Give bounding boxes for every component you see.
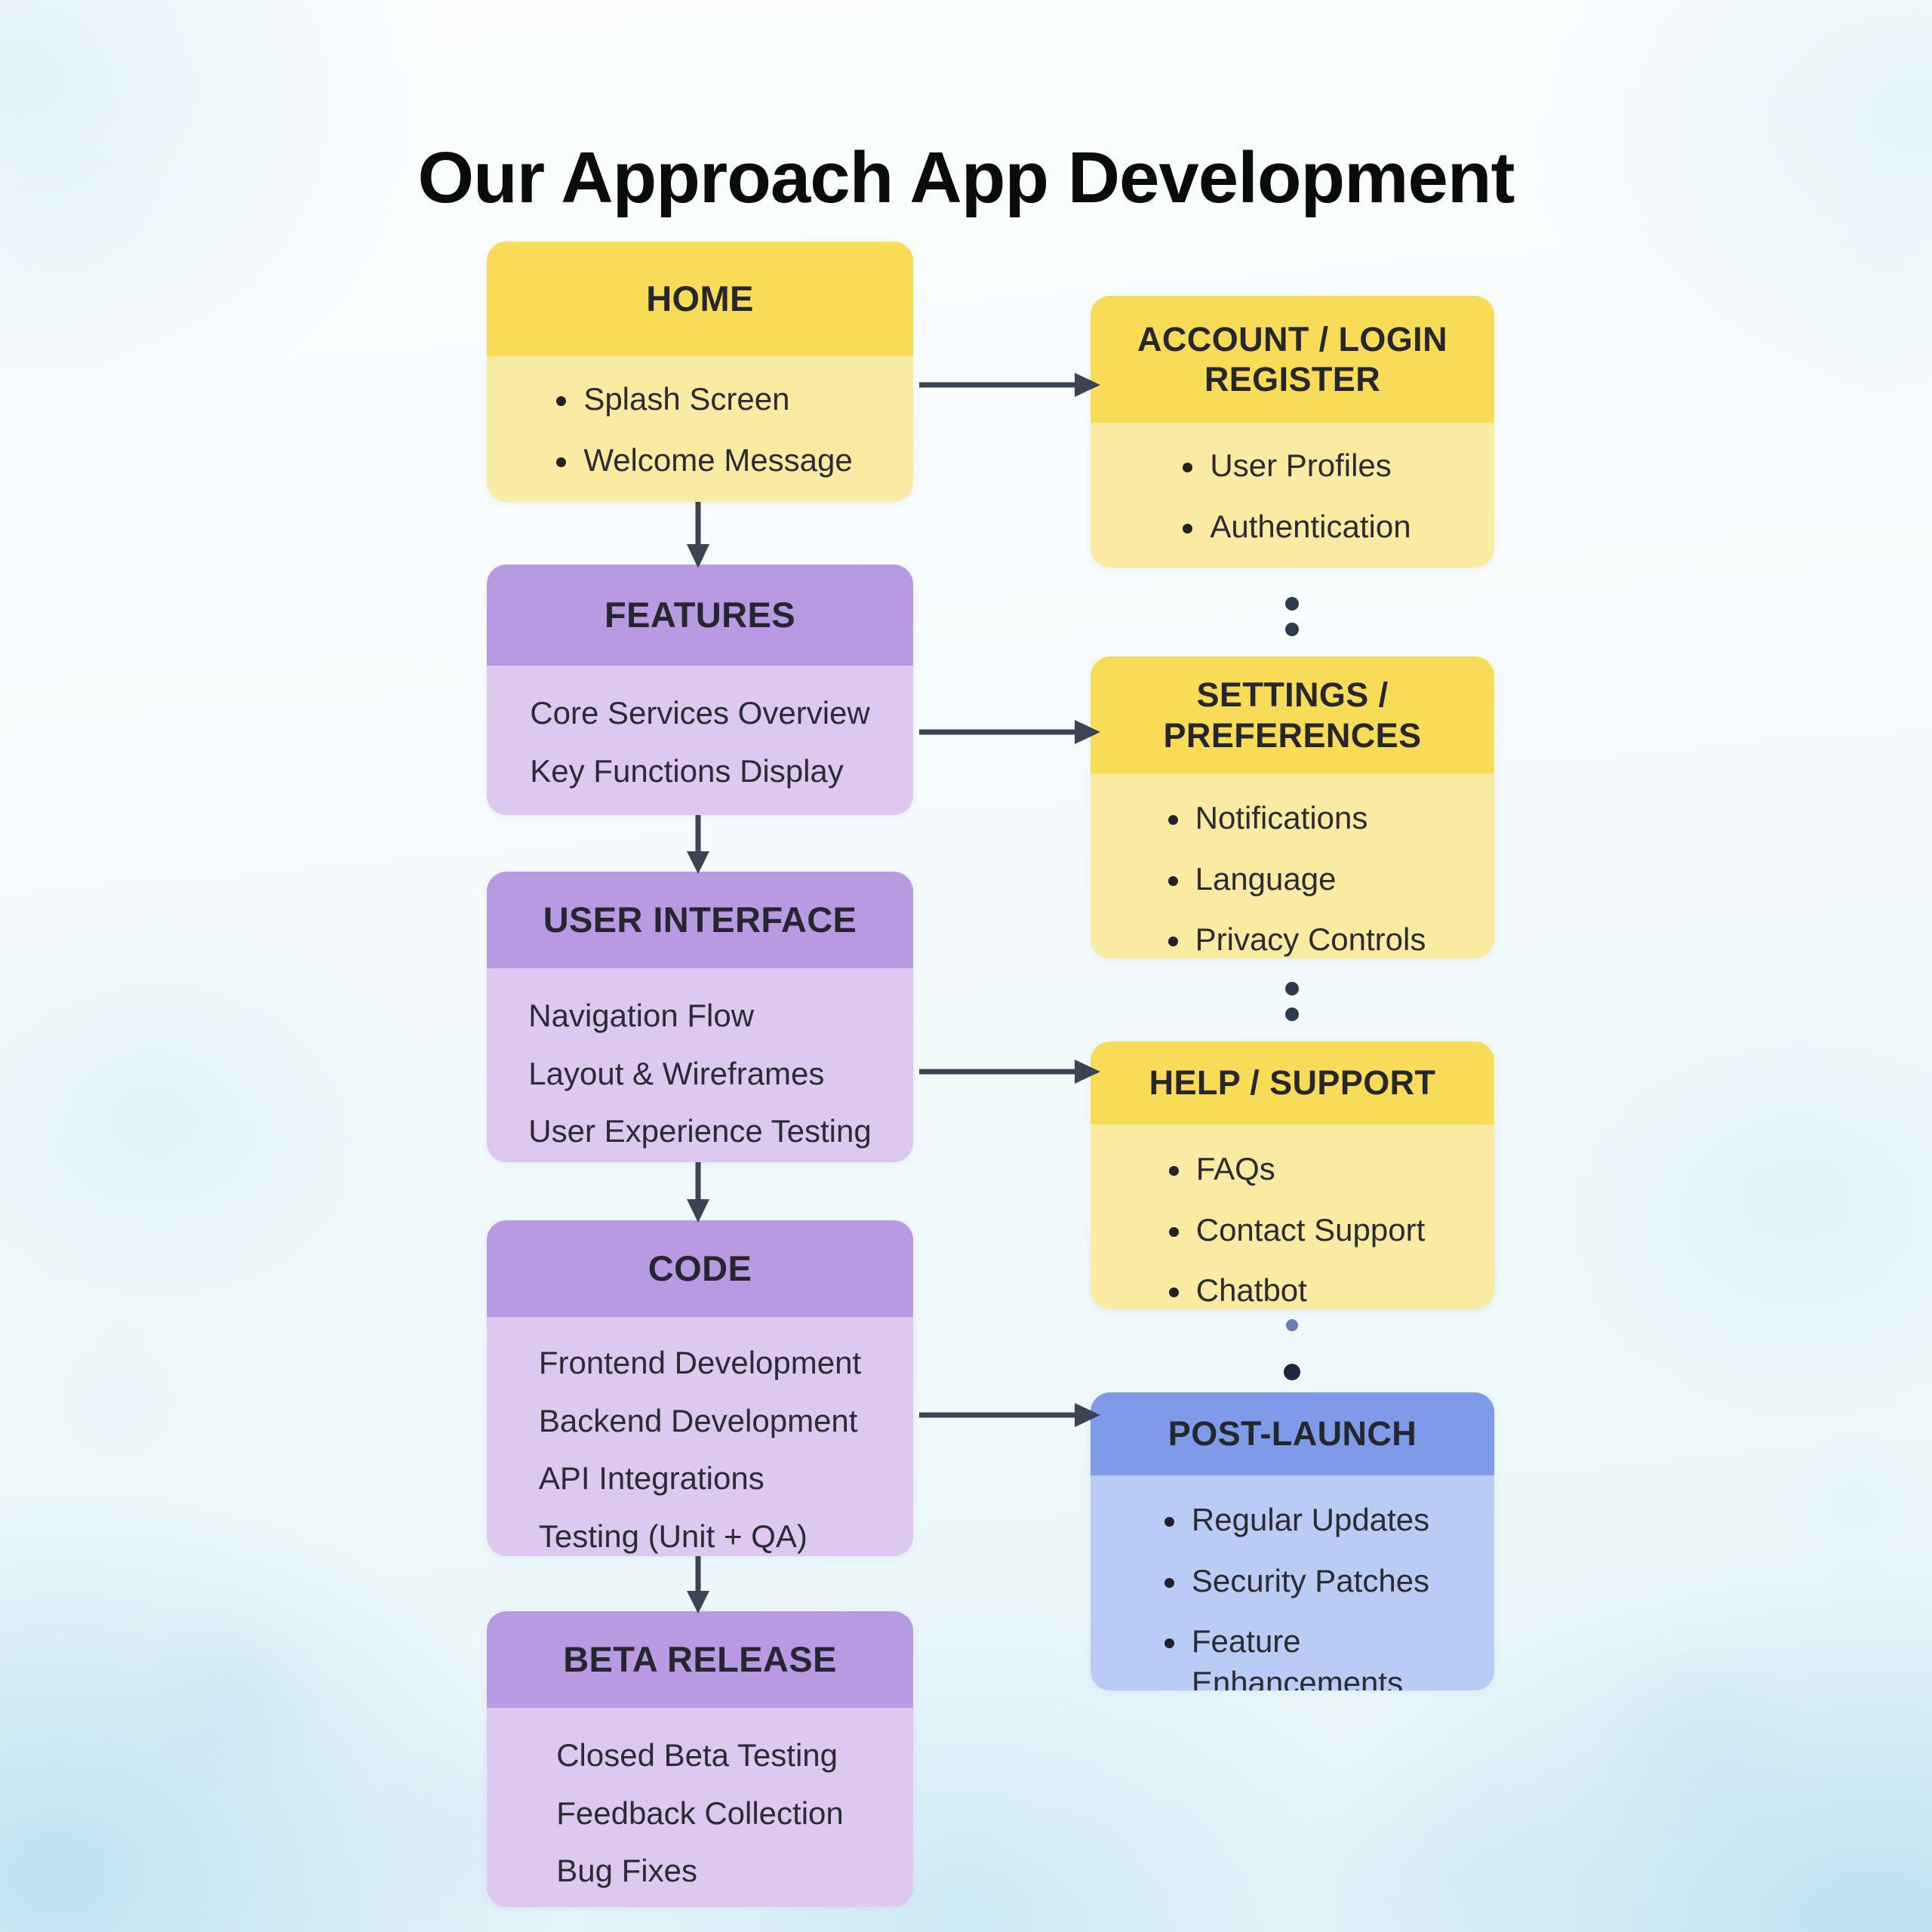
node-settings-preferences-list: Notifications Language Privacy Controls — [1159, 798, 1426, 958]
connector-help-to-post-launch — [1283, 1319, 1301, 1383]
connector-code-to-post-launch — [919, 1400, 1100, 1430]
node-account-login-body: User Profiles Authentication — [1091, 423, 1494, 568]
node-code-title: CODE — [487, 1220, 913, 1317]
list-item: Closed Beta Testing — [556, 1735, 844, 1777]
node-help-support[interactable]: HELP / SUPPORT FAQs Contact Support Chat… — [1091, 1041, 1494, 1309]
list-item: API Integrations — [539, 1458, 861, 1500]
node-beta-release[interactable]: BETA RELEASE Closed Beta Testing Feedbac… — [487, 1611, 913, 1907]
connector-user-interface-to-code — [683, 1162, 713, 1223]
list-item: Language — [1159, 859, 1426, 900]
list-item: FAQs — [1160, 1149, 1426, 1190]
list-item: Chatbot — [1160, 1270, 1426, 1309]
node-post-launch[interactable]: POST-LAUNCH Regular Updates Security Pat… — [1091, 1392, 1494, 1690]
connector-user-interface-to-help — [919, 1057, 1100, 1087]
node-settings-preferences-title: SETTINGS / PREFERENCES — [1091, 657, 1494, 774]
node-settings-preferences[interactable]: SETTINGS / PREFERENCES Notifications Lan… — [1091, 657, 1494, 958]
node-post-launch-body: Regular Updates Security Patches Feature… — [1091, 1475, 1494, 1690]
list-item: Splash Screen — [547, 379, 852, 420]
node-home[interactable]: HOME Splash Screen Welcome Message — [487, 241, 913, 502]
list-item: Core Services Overview — [530, 693, 869, 734]
connector-settings-to-help — [1283, 981, 1301, 1028]
node-home-body: Splash Screen Welcome Message — [487, 356, 913, 502]
node-beta-release-title: BETA RELEASE — [487, 1611, 913, 1708]
list-item: Welcome Message — [547, 440, 852, 481]
node-help-support-list: FAQs Contact Support Chatbot — [1160, 1149, 1426, 1309]
node-account-login-title: ACCOUNT / LOGIN REGISTER — [1091, 296, 1494, 423]
list-item: Security Patches — [1155, 1561, 1429, 1602]
node-beta-release-body: Closed Beta Testing Feedback Collection … — [487, 1708, 913, 1907]
node-beta-release-list: Closed Beta Testing Feedback Collection … — [556, 1735, 844, 1892]
list-item: Key Functions Display — [530, 751, 869, 792]
node-features[interactable]: FEATURES Core Services Overview Key Func… — [487, 565, 913, 815]
node-user-interface[interactable]: USER INTERFACE Navigation Flow Layout & … — [487, 872, 913, 1162]
node-home-title: HOME — [487, 241, 913, 356]
list-item: User Experience Testing — [528, 1111, 871, 1152]
list-item: Feature Enhancements — [1155, 1621, 1429, 1690]
list-item: Contact Support — [1160, 1210, 1426, 1251]
background-texture — [0, 0, 1932, 1932]
node-features-body: Core Services Overview Key Functions Dis… — [487, 666, 913, 815]
node-post-launch-title: POST-LAUNCH — [1091, 1392, 1494, 1475]
node-code-body: Frontend Development Backend Development… — [487, 1317, 913, 1556]
node-user-interface-title: USER INTERFACE — [487, 872, 913, 968]
node-user-interface-body: Navigation Flow Layout & Wireframes User… — [487, 968, 913, 1162]
list-item: Frontend Development — [539, 1343, 861, 1384]
connector-features-to-user-interface — [683, 815, 713, 874]
connector-home-to-features — [683, 502, 713, 568]
node-post-launch-list: Regular Updates Security Patches Feature… — [1155, 1500, 1429, 1690]
node-account-login[interactable]: ACCOUNT / LOGIN REGISTER User Profiles A… — [1091, 296, 1494, 568]
list-item: Navigation Flow — [528, 995, 871, 1037]
list-item: Backend Development — [539, 1401, 861, 1442]
list-item: Regular Updates — [1155, 1500, 1429, 1541]
node-account-login-list: User Profiles Authentication — [1174, 445, 1411, 547]
node-features-list: Core Services Overview Key Functions Dis… — [530, 693, 869, 792]
node-home-list: Splash Screen Welcome Message — [547, 379, 852, 481]
list-item: Bug Fixes — [556, 1850, 844, 1892]
list-item: Testing (Unit + QA) — [539, 1516, 861, 1556]
node-help-support-title: HELP / SUPPORT — [1091, 1041, 1494, 1124]
list-item: User Profiles — [1174, 445, 1411, 487]
node-code[interactable]: CODE Frontend Development Backend Develo… — [487, 1220, 913, 1556]
node-code-list: Frontend Development Backend Development… — [539, 1343, 861, 1556]
node-features-title: FEATURES — [487, 565, 913, 666]
list-item: Feedback Collection — [556, 1793, 844, 1835]
node-help-support-body: FAQs Contact Support Chatbot — [1091, 1124, 1494, 1309]
connector-home-to-account — [919, 370, 1100, 400]
node-user-interface-list: Navigation Flow Layout & Wireframes User… — [528, 995, 871, 1152]
connector-account-to-settings — [1283, 596, 1301, 643]
node-settings-preferences-body: Notifications Language Privacy Controls — [1091, 774, 1494, 958]
list-item: Privacy Controls — [1159, 919, 1426, 958]
connector-code-to-beta-release — [683, 1556, 713, 1614]
connector-features-to-settings — [919, 717, 1100, 747]
diagram-canvas: Our Approach App Development HOME Splash… — [0, 0, 1932, 1932]
page-title: Our Approach App Development — [0, 140, 1932, 217]
list-item: Authentication — [1174, 506, 1411, 548]
list-item: Layout & Wireframes — [528, 1054, 871, 1095]
list-item: Notifications — [1159, 798, 1426, 839]
